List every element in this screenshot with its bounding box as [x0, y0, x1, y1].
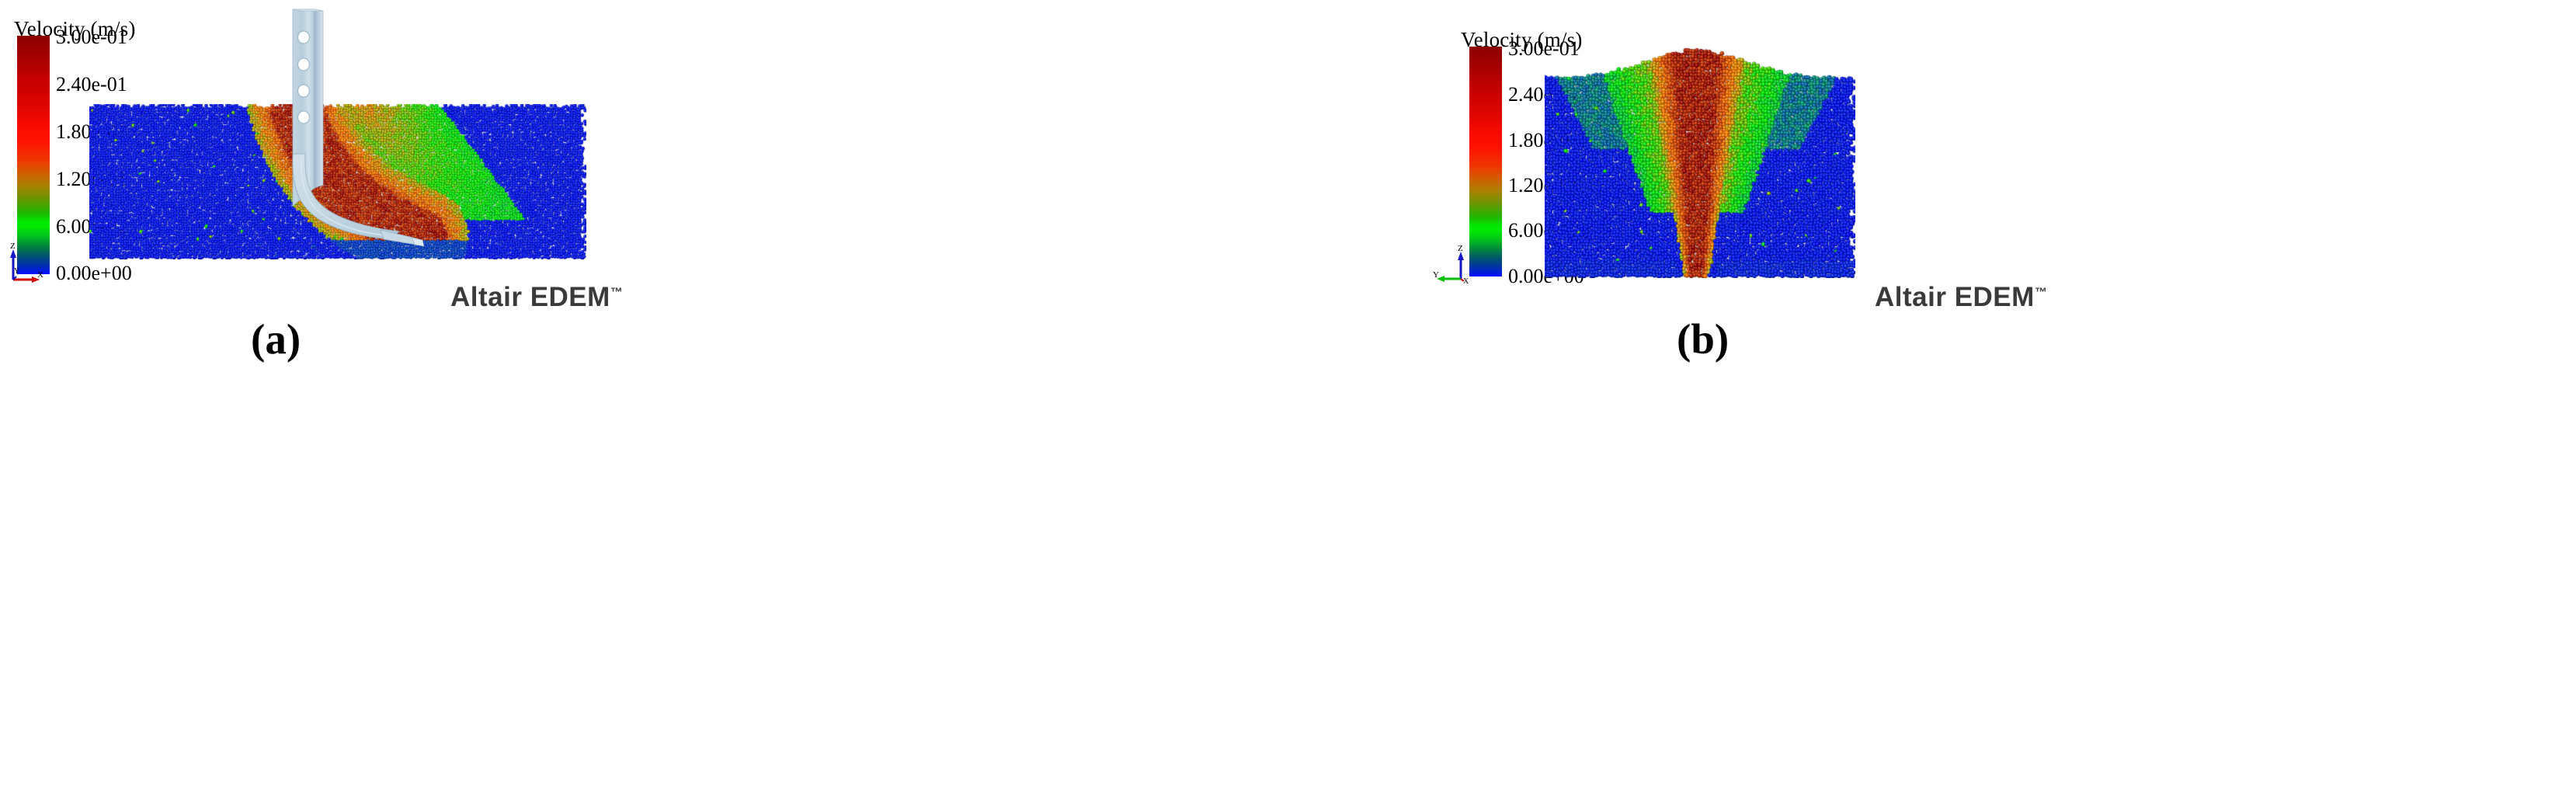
colorbar-gradient [17, 36, 50, 274]
particle-bed-canvas-b [1545, 45, 1855, 278]
panel-a: Velocity (m/s) 3.00e-01 2.40e-01 1.80e-0… [0, 0, 1288, 786]
colorbar-gradient [1469, 47, 1502, 276]
panel-caption-b: (b) [1677, 315, 1729, 363]
trademark-symbol: ™ [610, 286, 624, 299]
triad-y-label: Y [1433, 270, 1439, 280]
tine-tool [256, 8, 458, 256]
triad-x-label: X [1463, 277, 1469, 286]
triad-z-label: Z [1458, 245, 1463, 253]
watermark-text: Altair EDEM [450, 282, 610, 312]
triad-x-label: X [37, 270, 43, 280]
particle-bed-front-view [1545, 45, 1855, 278]
legend-tick-0: 3.00e-01 [56, 26, 127, 49]
triad-y-label: Y [14, 267, 19, 276]
legend-tick-1: 2.40e-01 [56, 73, 127, 96]
watermark-altair-edem-a: Altair EDEM™ [450, 282, 623, 313]
axis-triad-panel-b: Z Y X [1432, 245, 1479, 287]
panel-b: Velocity (m/s) 3.00e-01 2.40e-01 1.80e-0… [1288, 0, 2576, 786]
legend-tick-5: 0.00e+00 [56, 262, 132, 285]
triad-z-label: Z [10, 242, 16, 251]
axis-triad-panel-a: Z X Y [3, 242, 50, 289]
watermark-altair-edem-b: Altair EDEM™ [1875, 282, 2047, 313]
panel-caption-a: (a) [251, 315, 301, 363]
trademark-symbol: ™ [2035, 286, 2048, 299]
watermark-text: Altair EDEM [1875, 282, 2035, 312]
